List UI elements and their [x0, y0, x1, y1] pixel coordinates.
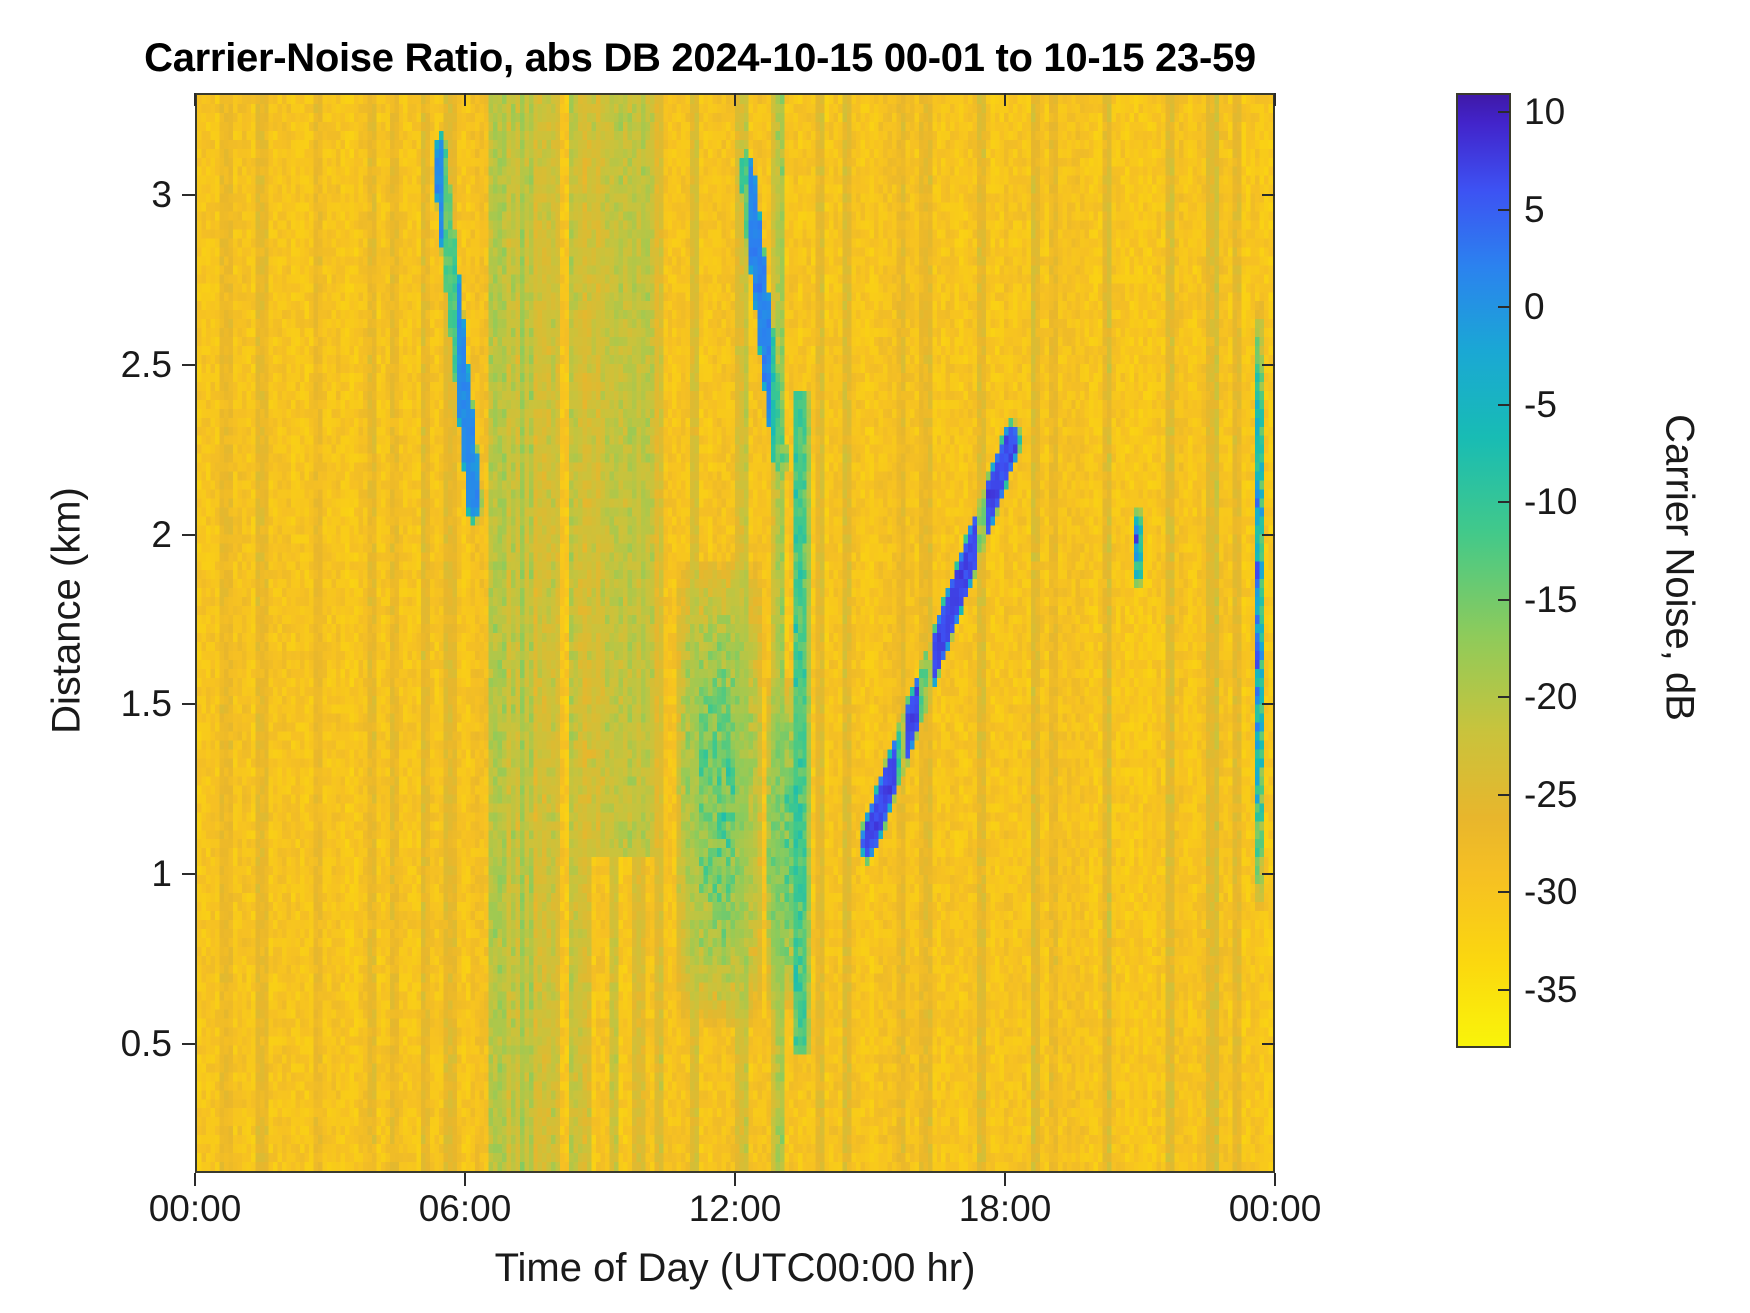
x-tick-label-3: 18:00	[959, 1188, 1052, 1230]
colorbar-tick-6	[1498, 696, 1510, 698]
colorbar[interactable]	[1456, 93, 1511, 1048]
x-tick-top-1	[464, 93, 466, 106]
x-tick-2	[734, 1173, 736, 1186]
figure-root: Carrier-Noise Ratio, abs DB 2024-10-15 0…	[0, 0, 1750, 1313]
heatmap-plot-area[interactable]	[195, 93, 1275, 1173]
colorbar-tick-3	[1498, 404, 1510, 406]
y-tick-3	[182, 703, 195, 705]
colorbar-tick-label-8: -30	[1524, 871, 1577, 913]
y-tick-right-1	[1262, 364, 1275, 366]
y-tick-4	[182, 873, 195, 875]
y-tick-right-0	[1262, 194, 1275, 196]
colorbar-tick-label-2: 0	[1524, 286, 1545, 328]
x-tick-3	[1004, 1173, 1006, 1186]
x-tick-top-2	[734, 93, 736, 106]
y-tick-label-0: 3	[151, 174, 172, 216]
colorbar-tick-5	[1498, 599, 1510, 601]
colorbar-tick-label-5: -15	[1524, 579, 1577, 621]
y-axis-title: Distance (km)	[45, 261, 90, 961]
y-tick-right-3	[1262, 703, 1275, 705]
page-title: Carrier-Noise Ratio, abs DB 2024-10-15 0…	[0, 36, 1400, 81]
y-tick-0	[182, 194, 195, 196]
y-tick-2	[182, 534, 195, 536]
colorbar-tick-2	[1498, 306, 1510, 308]
colorbar-tick-label-4: -10	[1524, 481, 1577, 523]
x-tick-label-4: 00:00	[1229, 1188, 1322, 1230]
colorbar-tick-label-3: -5	[1524, 384, 1557, 426]
x-tick-label-2: 12:00	[689, 1188, 782, 1230]
colorbar-tick-label-0: 10	[1524, 91, 1565, 133]
y-tick-right-5	[1262, 1043, 1275, 1045]
y-tick-label-4: 1	[151, 853, 172, 895]
x-tick-top-3	[1004, 93, 1006, 106]
x-tick-label-0: 00:00	[149, 1188, 242, 1230]
colorbar-tick-8	[1498, 891, 1510, 893]
x-tick-top-4	[1274, 93, 1276, 106]
y-tick-right-2	[1262, 534, 1275, 536]
colorbar-tick-4	[1498, 501, 1510, 503]
x-tick-top-0	[194, 93, 196, 106]
colorbar-tick-9	[1498, 989, 1510, 991]
colorbar-title: Carrier Noise, dB	[1657, 218, 1702, 918]
colorbar-tick-label-6: -20	[1524, 676, 1577, 718]
x-tick-0	[194, 1173, 196, 1186]
x-tick-4	[1274, 1173, 1276, 1186]
colorbar-tick-1	[1498, 209, 1510, 211]
y-tick-label-3: 1.5	[121, 683, 172, 725]
x-tick-label-1: 06:00	[419, 1188, 512, 1230]
colorbar-tick-label-9: -35	[1524, 969, 1577, 1011]
colorbar-tick-label-7: -25	[1524, 774, 1577, 816]
colorbar-tick-0	[1498, 111, 1510, 113]
colorbar-tick-label-1: 5	[1524, 189, 1545, 231]
y-tick-label-2: 2	[151, 514, 172, 556]
y-tick-5	[182, 1043, 195, 1045]
y-tick-right-4	[1262, 873, 1275, 875]
x-axis-title: Time of Day (UTC00:00 hr)	[195, 1246, 1275, 1291]
y-tick-label-5: 0.5	[121, 1023, 172, 1065]
x-tick-1	[464, 1173, 466, 1186]
colorbar-tick-7	[1498, 794, 1510, 796]
heatmap-canvas	[197, 95, 1273, 1171]
y-tick-1	[182, 364, 195, 366]
y-tick-label-1: 2.5	[121, 344, 172, 386]
